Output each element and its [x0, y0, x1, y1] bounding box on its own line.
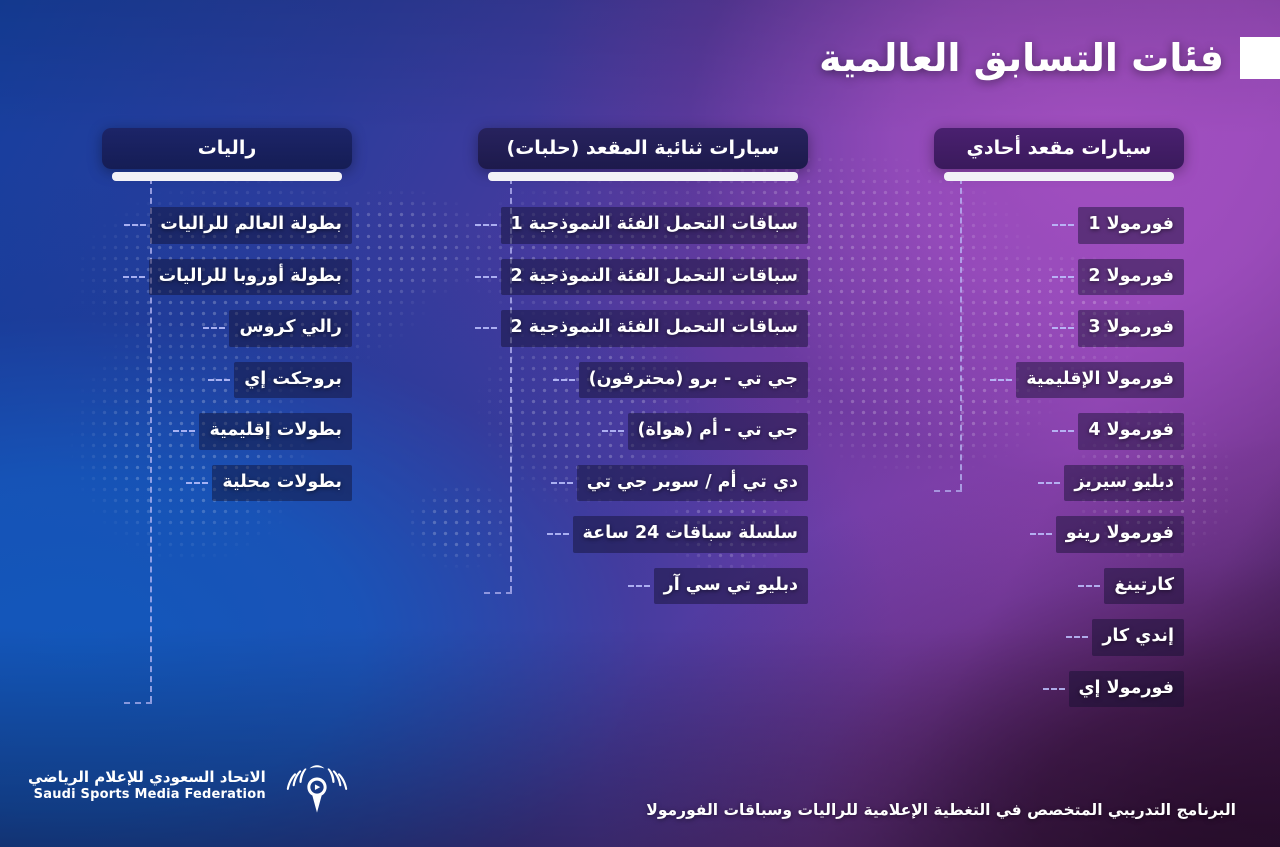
column-header-underline	[944, 172, 1174, 181]
brand-lockup: الاتحاد السعودي للإعلام الرياضي Saudi Sp…	[28, 749, 354, 823]
list-item[interactable]: بطولات إقليمية	[199, 413, 352, 450]
column-header-single-seater: سيارات مقعد أحادي	[934, 128, 1184, 181]
list-item[interactable]: فورمولا إي	[1069, 671, 1184, 708]
list-item[interactable]: كارتينغ	[1104, 568, 1184, 605]
list-item[interactable]: جي تي - برو (محترفون)	[579, 362, 808, 399]
footer-caption: البرنامج التدريبي المتخصص في التغطية الإ…	[646, 801, 1236, 819]
brand-name-en: Saudi Sports Media Federation	[28, 787, 266, 804]
slide-title-row: فئات التسابق العالمية	[0, 36, 1280, 80]
column-header-label: راليات	[102, 128, 352, 169]
list-item[interactable]: سباقات التحمل الفئة النموذجية 2	[501, 259, 808, 296]
column-single-seater: سيارات مقعد أحادي فورمولا 1 فورمولا 2 فو…	[934, 128, 1184, 707]
column-header-underline	[488, 172, 798, 181]
column-rallies: راليات بطولة العالم للراليات بطولة أوروب…	[102, 128, 352, 501]
column-items-two-seater: سباقات التحمل الفئة النموذجية 1 سباقات ا…	[478, 207, 808, 604]
column-items-rallies: بطولة العالم للراليات بطولة أوروبا للرال…	[102, 207, 352, 501]
brand-text: الاتحاد السعودي للإعلام الرياضي Saudi Sp…	[28, 768, 266, 804]
column-two-seater: سيارات ثنائية المقعد (حلبات) سباقات التح…	[478, 128, 808, 604]
list-item[interactable]: إندي كار	[1092, 619, 1184, 656]
list-item[interactable]: فورمولا رينو	[1056, 516, 1184, 553]
list-item[interactable]: سباقات التحمل الفئة النموذجية 1	[501, 207, 808, 244]
column-items-single-seater: فورمولا 1 فورمولا 2 فورمولا 3 فورمولا ال…	[934, 207, 1184, 707]
title-accent-square	[1240, 37, 1280, 79]
list-item[interactable]: فورمولا 1	[1078, 207, 1184, 244]
feather-pen-nib-icon	[280, 749, 354, 823]
list-item[interactable]: فورمولا 2	[1078, 259, 1184, 296]
list-item[interactable]: بطولات محلية	[212, 465, 352, 502]
column-header-label: سيارات مقعد أحادي	[934, 128, 1184, 169]
list-item[interactable]: رالي كروس	[229, 310, 352, 347]
column-header-label: سيارات ثنائية المقعد (حلبات)	[478, 128, 808, 169]
list-item[interactable]: فورمولا 4	[1078, 413, 1184, 450]
list-item[interactable]: دبليو تي سي آر	[654, 568, 808, 605]
list-item[interactable]: سلسلة سباقات 24 ساعة	[573, 516, 808, 553]
list-item[interactable]: بطولة أوروبا للراليات	[149, 259, 352, 296]
list-item[interactable]: جي تي - أم (هواة)	[628, 413, 808, 450]
slide-root: فئات التسابق العالمية سيارات مقعد أحادي …	[0, 0, 1280, 847]
list-item[interactable]: فورمولا 3	[1078, 310, 1184, 347]
column-header-underline	[112, 172, 342, 181]
category-columns: سيارات مقعد أحادي فورمولا 1 فورمولا 2 فو…	[0, 128, 1280, 728]
list-item[interactable]: دي تي أم / سوبر جي تي	[577, 465, 808, 502]
list-item[interactable]: بروجكت إي	[234, 362, 352, 399]
list-item[interactable]: سباقات التحمل الفئة النموذجية 2	[501, 310, 808, 347]
list-item[interactable]: دبليو سيريز	[1064, 465, 1184, 502]
list-item[interactable]: بطولة العالم للراليات	[150, 207, 352, 244]
column-header-rallies: راليات	[102, 128, 352, 181]
column-header-two-seater: سيارات ثنائية المقعد (حلبات)	[478, 128, 808, 181]
list-item[interactable]: فورمولا الإقليمية	[1016, 362, 1184, 399]
brand-name-ar: الاتحاد السعودي للإعلام الرياضي	[28, 768, 266, 787]
page-title: فئات التسابق العالمية	[819, 36, 1224, 80]
